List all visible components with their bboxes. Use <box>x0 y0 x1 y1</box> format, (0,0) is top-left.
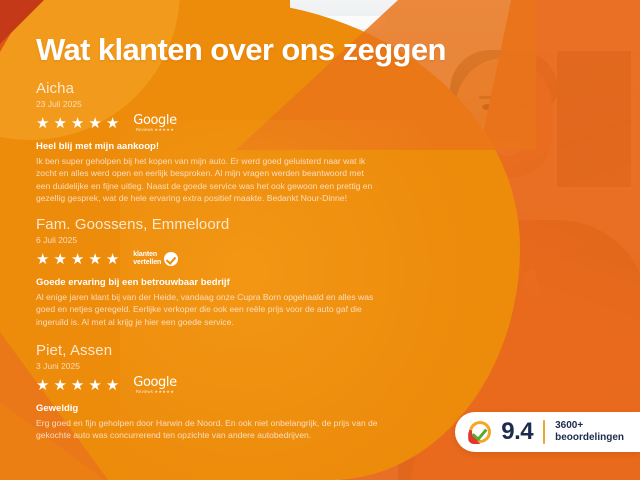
star-icon: ★ <box>71 252 84 267</box>
star-icon: ★ <box>53 116 66 131</box>
score-divider <box>543 420 545 444</box>
star-rating: ★ ★ ★ ★ ★ <box>36 378 119 393</box>
score-count-label: beoordelingen <box>555 432 624 444</box>
review-body: Al enige jaren klant bij van der Heide, … <box>36 291 380 328</box>
check-circle-icon <box>164 252 178 266</box>
review-body: Erg goed en fijn geholpen door Harwin de… <box>36 417 380 442</box>
star-icon: ★ <box>88 378 101 393</box>
score-value: 9.4 <box>501 420 533 444</box>
score-badge[interactable]: 9.4 3600+ beoordelingen <box>455 412 640 452</box>
star-icon: ★ <box>88 116 101 131</box>
review-date: 6 Juli 2025 <box>36 234 386 246</box>
google-reviews-logo: Google Reviews ★★★★★ <box>133 376 176 394</box>
star-rating: ★ ★ ★ ★ ★ <box>36 252 119 267</box>
star-rating: ★ ★ ★ ★ ★ <box>36 116 119 131</box>
star-icon: ★ <box>36 252 49 267</box>
klantenvertellen-seal-icon <box>469 421 491 443</box>
star-icon: ★ <box>36 116 49 131</box>
review-headline: Geweldig <box>36 402 386 415</box>
review-date: 3 Juni 2025 <box>36 360 386 372</box>
score-count: 3600+ <box>555 420 624 432</box>
review-banner: VDH Wat klanten over ons zeggen Aicha 23… <box>0 0 640 480</box>
banner-content: Wat klanten over ons zeggen Aicha 23 Jul… <box>0 0 640 480</box>
reviewer-name: Piet, Assen <box>36 342 386 359</box>
klantenvertellen-line2: vertellen <box>133 259 161 267</box>
klantenvertellen-logo: klanten vertellen <box>133 251 178 267</box>
star-icon: ★ <box>36 378 49 393</box>
review-meta: ★ ★ ★ ★ ★ Google Reviews ★★★★★ <box>36 113 386 133</box>
star-icon: ★ <box>53 252 66 267</box>
review-item: Aicha 23 Juli 2025 ★ ★ ★ ★ ★ Google Revi… <box>36 80 386 205</box>
google-reviews-sublabel: Reviews ★★★★★ <box>136 390 174 394</box>
review-meta: ★ ★ ★ ★ ★ klanten vertellen <box>36 249 386 269</box>
klantenvertellen-wordmark: klanten vertellen <box>133 251 161 267</box>
klantenvertellen-line1: klanten <box>133 251 161 259</box>
star-icon: ★ <box>106 116 119 131</box>
star-icon: ★ <box>53 378 66 393</box>
google-wordmark: Google <box>133 114 176 127</box>
reviewer-name: Fam. Goossens, Emmeloord <box>36 216 386 233</box>
review-meta: ★ ★ ★ ★ ★ Google Reviews ★★★★★ <box>36 375 386 395</box>
page-title: Wat klanten over ons zeggen <box>36 32 446 68</box>
google-wordmark: Google <box>133 376 176 389</box>
star-icon: ★ <box>106 252 119 267</box>
review-headline: Heel blij met mijn aankoop! <box>36 140 386 153</box>
review-item: Fam. Goossens, Emmeloord 6 Juli 2025 ★ ★… <box>36 216 386 328</box>
review-headline: Goede ervaring bij een betrouwbaar bedri… <box>36 276 386 289</box>
review-date: 23 Juli 2025 <box>36 98 386 110</box>
star-icon: ★ <box>71 378 84 393</box>
score-count-group: 3600+ beoordelingen <box>555 420 624 444</box>
review-body: Ik ben super geholpen bij het kopen van … <box>36 155 380 205</box>
star-icon: ★ <box>88 252 101 267</box>
google-reviews-logo: Google Reviews ★★★★★ <box>133 114 176 132</box>
star-icon: ★ <box>106 378 119 393</box>
google-reviews-sublabel: Reviews ★★★★★ <box>136 128 174 132</box>
star-icon: ★ <box>71 116 84 131</box>
reviewer-name: Aicha <box>36 80 386 97</box>
review-item: Piet, Assen 3 Juni 2025 ★ ★ ★ ★ ★ Google… <box>36 342 386 442</box>
